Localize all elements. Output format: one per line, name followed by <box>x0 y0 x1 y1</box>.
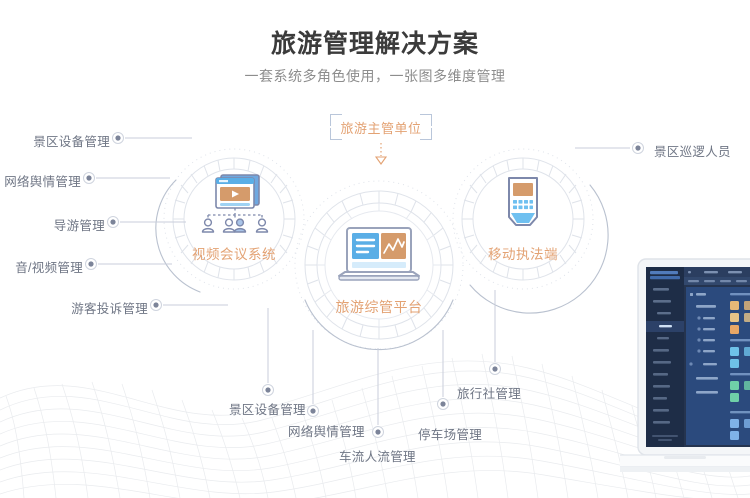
supervising-unit-badge[interactable]: 旅游主管单位 <box>330 114 432 140</box>
badge-arrow <box>376 143 386 164</box>
label-left-0[interactable]: 景区设备管理 <box>0 131 110 150</box>
label-bottom-4[interactable]: 旅行社管理 <box>457 383 521 402</box>
handheld-device-icon <box>498 175 548 238</box>
node-label-video-conference: 视频会议系统 <box>192 243 276 263</box>
node-label-tourism-platform: 旅游综管平台 <box>336 297 423 317</box>
node-label-mobile-enforcement: 移动执法端 <box>488 243 558 263</box>
infographic-canvas: 旅游管理解决方案 一套系统多角色使用，一张图多维度管理 <box>0 0 750 498</box>
label-bottom-3[interactable]: 停车场管理 <box>418 424 482 443</box>
laptop-product-mockup <box>620 253 750 498</box>
video-conference-icon <box>193 172 275 239</box>
node-mobile-enforcement[interactable]: 移动执法端 <box>455 175 591 263</box>
label-left-4[interactable]: 游客投诉管理 <box>0 298 148 317</box>
label-right-0[interactable]: 景区巡逻人员 <box>654 141 731 160</box>
node-video-conference[interactable]: 视频会议系统 <box>166 172 302 263</box>
label-bottom-1[interactable]: 网络舆情管理 <box>288 421 365 440</box>
label-left-1[interactable]: 网络舆情管理 <box>0 171 81 190</box>
label-left-3[interactable]: 音/视频管理 <box>0 257 83 276</box>
badge-label: 旅游主管单位 <box>340 118 421 137</box>
label-left-2[interactable]: 导游管理 <box>0 215 105 234</box>
label-bottom-0[interactable]: 景区设备管理 <box>229 399 306 418</box>
label-bottom-2[interactable]: 车流人流管理 <box>339 446 416 465</box>
laptop-dashboard-icon <box>333 226 425 291</box>
right-connector <box>575 143 644 154</box>
node-tourism-platform[interactable]: 旅游综管平台 <box>309 226 449 317</box>
